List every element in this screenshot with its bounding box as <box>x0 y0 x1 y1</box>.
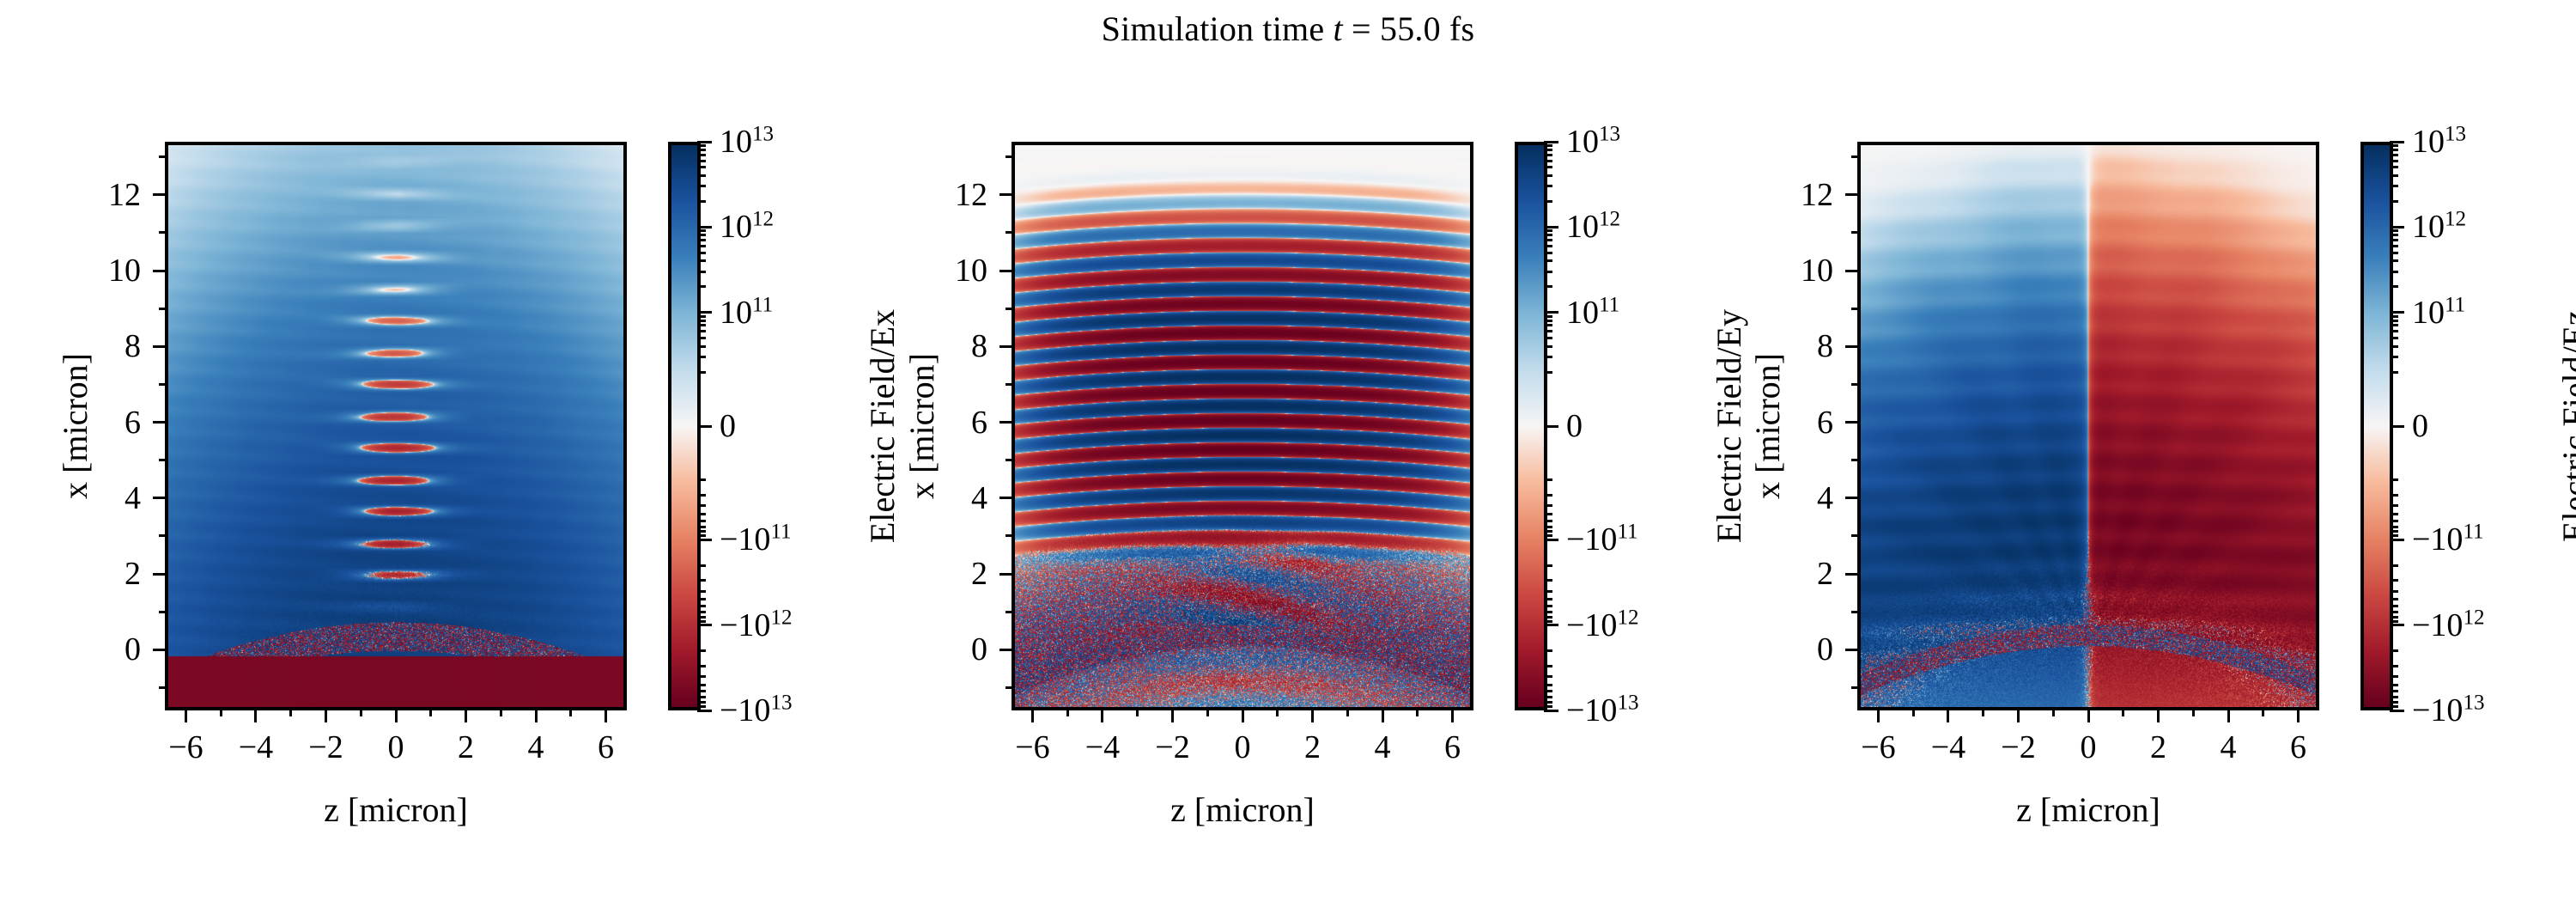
colorbar-tick-minor <box>697 579 706 582</box>
colorbar-tick-minor <box>697 234 706 236</box>
colorbar-tick-minor <box>2390 229 2398 232</box>
x-ticklabel: 2 <box>458 731 474 764</box>
colorbar-tick-minor <box>1544 598 1552 600</box>
colorbar-tick-minor <box>697 174 706 177</box>
y-ticklabel: 0 <box>1817 633 1833 666</box>
colorbar-tick-minor <box>697 330 706 332</box>
colorbar-ticklabel: −1011 <box>2412 521 2484 558</box>
colorbar-ticklabel: −1013 <box>720 692 793 729</box>
y-tick-major <box>999 193 1013 196</box>
colorbar-tick-major <box>2390 141 2404 143</box>
colorbar-tick-minor <box>697 696 706 698</box>
colorbar-tick-minor <box>2390 324 2398 326</box>
colorbar-tick-minor <box>1544 665 1552 667</box>
y-ticklabel: 6 <box>1817 406 1833 439</box>
colorbar-tick-minor <box>1544 620 1552 623</box>
colorbar-tick-minor <box>2390 494 2398 497</box>
colorbar-tick-minor <box>1544 579 1552 582</box>
colorbar-tick-minor <box>697 526 706 528</box>
x-ticklabel: −4 <box>1931 731 1965 764</box>
y-tick-minor <box>1005 534 1013 537</box>
y-axis-label: x [micron] <box>1747 353 1788 499</box>
colorbar-tick-minor <box>1544 252 1552 254</box>
colorbar-tick-minor <box>1544 271 1552 273</box>
colorbar-tick-major <box>1544 539 1558 541</box>
x-tick-major <box>1382 709 1384 722</box>
heatmap-canvas-ex <box>168 145 623 707</box>
y-tick-minor <box>159 383 167 386</box>
y-tick-minor <box>159 231 167 234</box>
figure-title-equals: = <box>1343 9 1380 48</box>
figure-title: Simulation time t = 55.0 fs <box>0 9 2576 49</box>
colorbar-ticklabel: 1012 <box>2412 208 2466 246</box>
colorbar-ticklabel: −1012 <box>720 606 793 644</box>
colorbar-tick-minor <box>2390 371 2398 374</box>
colorbar-tick-minor <box>2390 579 2398 582</box>
y-tick-minor <box>1005 308 1013 310</box>
y-ticklabel: 2 <box>125 558 141 590</box>
heatmap-axes-ez <box>1857 142 2319 710</box>
x-tick-major <box>2017 709 2020 722</box>
colorbar-tick-minor <box>2390 239 2398 241</box>
y-ticklabel: 12 <box>955 179 987 211</box>
colorbar-title-ey: Electric Field/Ey <box>1709 309 1749 543</box>
colorbar-tick-minor <box>1544 616 1552 619</box>
colorbar-tick-major <box>1544 710 1558 712</box>
figure-title-value: 55.0 fs <box>1380 9 1474 48</box>
y-tick-major <box>153 649 167 651</box>
colorbar-tick-minor <box>1544 526 1552 528</box>
x-ticklabel: −6 <box>1015 731 1049 764</box>
colorbar-tick-minor <box>2390 530 2398 533</box>
y-ticklabel: 8 <box>971 330 987 363</box>
colorbar-tick-minor <box>697 701 706 704</box>
colorbar-tick-minor <box>1544 494 1552 497</box>
colorbar-tick-major <box>697 624 712 626</box>
colorbar-title-ex: Electric Field/Ex <box>862 309 902 543</box>
colorbar-tick-minor <box>2390 174 2398 177</box>
colorbar-tick-minor <box>2390 696 2398 698</box>
colorbar-tick-minor <box>1544 371 1552 374</box>
x-tick-minor <box>1416 709 1419 716</box>
colorbar-tick-minor <box>697 478 706 481</box>
y-ticklabel: 8 <box>1817 330 1833 363</box>
x-tick-major <box>2157 709 2160 722</box>
colorbar-tick-minor <box>1544 520 1552 522</box>
colorbar-tick-minor <box>697 200 706 203</box>
y-tick-minor <box>1851 308 1859 310</box>
y-tick-minor <box>159 308 167 310</box>
y-tick-minor <box>1851 611 1859 613</box>
y-ticklabel: 2 <box>1817 558 1833 590</box>
colorbar-tick-minor <box>2390 330 2398 332</box>
x-axis-label: z [micron] <box>324 789 468 830</box>
y-ticklabel: 4 <box>125 482 141 515</box>
colorbar-tick-minor <box>697 649 706 652</box>
y-ticklabel: 0 <box>125 633 141 666</box>
x-tick-major <box>535 709 538 722</box>
y-tick-minor <box>159 534 167 537</box>
colorbar-tick-minor <box>1544 154 1552 156</box>
colorbar-tick-minor <box>1544 324 1552 326</box>
x-ticklabel: −4 <box>239 731 273 764</box>
y-ticklabel: 12 <box>1801 179 1833 211</box>
colorbar-tick-minor <box>2390 160 2398 162</box>
colorbar-tick-minor <box>1544 259 1552 262</box>
colorbar-tick-minor <box>697 185 706 187</box>
y-tick-major <box>999 270 1013 272</box>
y-tick-minor <box>1851 383 1859 386</box>
colorbar-tick-minor <box>697 271 706 273</box>
colorbar-tick-minor <box>697 320 706 322</box>
colorbar-tick-major <box>2390 624 2404 626</box>
y-tick-minor <box>1851 686 1859 689</box>
x-tick-minor <box>289 709 292 716</box>
colorbar-tick-major <box>697 141 712 143</box>
colorbar-tick-minor <box>2390 611 2398 613</box>
colorbar-tick-minor <box>697 356 706 358</box>
colorbar-tick-minor <box>697 229 706 232</box>
colorbar-tick-minor <box>1544 696 1552 698</box>
colorbar-tick-minor <box>2390 345 2398 348</box>
colorbar-tick-minor <box>697 590 706 593</box>
colorbar-tick-minor <box>1544 684 1552 686</box>
colorbar-tick-minor <box>2390 185 2398 187</box>
colorbar-tick-major <box>2390 539 2404 541</box>
x-tick-major <box>1242 709 1244 722</box>
colorbar-tick-minor <box>697 259 706 262</box>
y-ticklabel: 0 <box>971 633 987 666</box>
colorbar-tick-minor <box>697 345 706 348</box>
y-ticklabel: 6 <box>971 406 987 439</box>
y-tick-minor <box>1005 231 1013 234</box>
x-ticklabel: −2 <box>1155 731 1189 764</box>
colorbar-tick-major <box>697 539 712 541</box>
colorbar-tick-minor <box>2390 356 2398 358</box>
y-ticklabel: 2 <box>971 558 987 590</box>
x-ticklabel: −6 <box>1861 731 1895 764</box>
x-ticklabel: 6 <box>2290 731 2306 764</box>
colorbar-tick-minor <box>1544 675 1552 678</box>
colorbar-tick-minor <box>2390 234 2398 236</box>
x-ticklabel: 0 <box>388 731 404 764</box>
colorbar-tick-minor <box>2390 144 2398 147</box>
y-tick-major <box>1845 573 1859 576</box>
colorbar-tick-minor <box>2390 337 2398 339</box>
colorbar-tick-minor <box>697 149 706 151</box>
x-tick-minor <box>2262 709 2264 716</box>
colorbar-ticklabel: −1012 <box>2412 606 2485 644</box>
colorbar-tick-minor <box>2390 315 2398 318</box>
x-axis-label: z [micron] <box>1170 789 1315 830</box>
colorbar-tick-minor <box>697 160 706 162</box>
colorbar-tick-minor <box>2390 616 2398 619</box>
colorbar-tick-minor <box>697 520 706 522</box>
x-ticklabel: 6 <box>598 731 614 764</box>
colorbar-tick-minor <box>1544 611 1552 613</box>
x-tick-minor <box>500 709 502 716</box>
colorbar-ticklabel: −1013 <box>1566 692 1639 729</box>
colorbar-tick-major <box>697 710 712 712</box>
y-tick-minor <box>1005 611 1013 613</box>
y-tick-minor <box>1005 459 1013 461</box>
colorbar-ticklabel: −1011 <box>1566 521 1638 558</box>
colorbar-tick-minor <box>2390 320 2398 322</box>
colorbar-tick-minor <box>1544 200 1552 203</box>
colorbar-tick-minor <box>2390 504 2398 507</box>
y-tick-major <box>999 573 1013 576</box>
colorbar-tick-minor <box>697 504 706 507</box>
colorbar-tick-minor <box>1544 144 1552 147</box>
colorbar-tick-minor <box>2390 690 2398 692</box>
y-ticklabel: 10 <box>955 254 987 287</box>
colorbar-ticklabel: 1013 <box>720 123 774 161</box>
colorbar-tick-minor <box>697 684 706 686</box>
colorbar-tick-major <box>2390 226 2404 229</box>
y-tick-major <box>153 497 167 499</box>
x-tick-major <box>2297 709 2300 722</box>
colorbar-ticklabel: −1012 <box>1566 606 1639 644</box>
colorbar-ticklabel: −1013 <box>2412 692 2485 729</box>
colorbar-tick-minor <box>2390 620 2398 623</box>
x-ticklabel: 4 <box>2221 731 2237 764</box>
colorbar-tick-minor <box>1544 701 1552 704</box>
colorbar-tick-minor <box>1544 245 1552 247</box>
colorbar-tick-minor <box>1544 564 1552 567</box>
colorbar-tick-minor <box>1544 530 1552 533</box>
colorbar-tick-major <box>697 425 712 428</box>
y-ticklabel: 4 <box>1817 482 1833 515</box>
colorbar-tick-major <box>2390 710 2404 712</box>
colorbar-tick-minor <box>1544 149 1552 151</box>
colorbar-tick-minor <box>697 337 706 339</box>
colorbar-tick-minor <box>697 611 706 613</box>
y-tick-minor <box>159 459 167 461</box>
x-tick-major <box>2087 709 2090 722</box>
y-ticklabel: 6 <box>125 406 141 439</box>
x-tick-minor <box>1066 709 1069 716</box>
x-tick-minor <box>1912 709 1915 716</box>
y-tick-major <box>1845 649 1859 651</box>
x-tick-major <box>1171 709 1174 722</box>
y-tick-major <box>153 193 167 196</box>
colorbar-tick-minor <box>697 324 706 326</box>
x-tick-minor <box>429 709 432 716</box>
colorbar-tick-minor <box>697 605 706 607</box>
x-ticklabel: 4 <box>528 731 544 764</box>
colorbar-tick-major <box>1544 141 1558 143</box>
y-tick-minor <box>1851 459 1859 461</box>
x-tick-minor <box>1346 709 1349 716</box>
y-tick-major <box>153 421 167 424</box>
colorbar-tick-minor <box>697 239 706 241</box>
x-ticklabel: 0 <box>1235 731 1251 764</box>
colorbar-tick-minor <box>1544 345 1552 348</box>
y-ticklabel: 4 <box>971 482 987 515</box>
y-tick-major <box>1845 497 1859 499</box>
colorbar-tick-major <box>1544 311 1558 314</box>
colorbar-tick-minor <box>697 252 706 254</box>
y-tick-major <box>1845 270 1859 272</box>
y-tick-major <box>999 421 1013 424</box>
colorbar-ticklabel: 1011 <box>720 294 773 332</box>
x-tick-minor <box>1206 709 1209 716</box>
colorbar-tick-minor <box>1544 234 1552 236</box>
colorbar-tick-minor <box>1544 330 1552 332</box>
colorbar-tick-minor <box>1544 513 1552 515</box>
colorbar-tick-minor <box>697 371 706 374</box>
x-ticklabel: 2 <box>1304 731 1321 764</box>
y-tick-minor <box>1851 534 1859 537</box>
colorbar-tick-minor <box>1544 534 1552 537</box>
colorbar-gradient-ey <box>1518 145 1544 707</box>
colorbar-tick-minor <box>697 494 706 497</box>
x-tick-minor <box>360 709 362 716</box>
heatmap-axes-ey <box>1012 142 1473 710</box>
y-tick-major <box>999 345 1013 348</box>
y-axis-label: x [micron] <box>902 353 942 499</box>
colorbar-tick-minor <box>1544 166 1552 168</box>
x-tick-minor <box>2192 709 2195 716</box>
colorbar-tick-minor <box>1544 590 1552 593</box>
colorbar-tick-minor <box>697 166 706 168</box>
colorbar-ticklabel: −1011 <box>720 521 792 558</box>
y-tick-major <box>153 573 167 576</box>
colorbar-tick-minor <box>697 245 706 247</box>
x-tick-major <box>254 709 257 722</box>
y-tick-major <box>1845 193 1859 196</box>
colorbar-tick-minor <box>1544 705 1552 708</box>
x-ticklabel: −2 <box>308 731 343 764</box>
colorbar-tick-minor <box>1544 649 1552 652</box>
colorbar-tick-minor <box>697 530 706 533</box>
colorbar-tick-minor <box>1544 690 1552 692</box>
colorbar-tick-minor <box>1544 315 1552 318</box>
colorbar-tick-minor <box>2390 271 2398 273</box>
colorbar-tick-minor <box>697 690 706 692</box>
colorbar-tick-minor <box>2390 564 2398 567</box>
x-tick-major <box>2227 709 2230 722</box>
colorbar-tick-minor <box>2390 590 2398 593</box>
y-tick-minor <box>159 155 167 158</box>
colorbar-ticklabel: 1011 <box>1566 294 1619 332</box>
colorbar-tick-minor <box>2390 526 2398 528</box>
colorbar-tick-minor <box>697 675 706 678</box>
x-tick-major <box>185 709 187 722</box>
y-tick-major <box>1845 421 1859 424</box>
colorbar-tick-minor <box>697 144 706 147</box>
y-axis-label: x [micron] <box>55 353 95 499</box>
colorbar-tick-minor <box>2390 649 2398 652</box>
colorbar-tick-minor <box>2390 705 2398 708</box>
colorbar-tick-minor <box>2390 701 2398 704</box>
colorbar-ticklabel: 0 <box>1566 407 1583 445</box>
colorbar-tick-minor <box>697 154 706 156</box>
y-ticklabel: 10 <box>108 254 141 287</box>
colorbar-tick-minor <box>2390 252 2398 254</box>
y-tick-minor <box>1005 155 1013 158</box>
colorbar-tick-minor <box>2390 684 2398 686</box>
colorbar-tick-minor <box>2390 520 2398 522</box>
x-tick-minor <box>2122 709 2124 716</box>
colorbar-tick-minor <box>697 598 706 600</box>
x-ticklabel: −4 <box>1085 731 1120 764</box>
colorbar-tick-minor <box>1544 160 1552 162</box>
figure-root: Simulation time t = 55.0 fs −6−4−20246z … <box>0 0 2576 902</box>
x-ticklabel: 4 <box>1375 731 1391 764</box>
x-tick-minor <box>1276 709 1279 716</box>
y-ticklabel: 12 <box>108 179 141 211</box>
x-tick-minor <box>2052 709 2055 716</box>
y-tick-major <box>999 497 1013 499</box>
heatmap-canvas-ey <box>1015 145 1470 707</box>
x-tick-major <box>395 709 398 722</box>
figure-title-prefix: Simulation time <box>1102 9 1334 48</box>
heatmap-canvas-ez <box>1861 145 2316 707</box>
y-tick-major <box>1845 345 1859 348</box>
y-ticklabel: 10 <box>1801 254 1833 287</box>
colorbar-tick-minor <box>2390 285 2398 288</box>
colorbar-tick-minor <box>2390 166 2398 168</box>
colorbar-tick-minor <box>697 513 706 515</box>
colorbar-ticklabel: 1012 <box>720 208 774 246</box>
colorbar-tick-major <box>2390 425 2404 428</box>
colorbar-tick-minor <box>2390 478 2398 481</box>
colorbar-ticklabel: 1013 <box>2412 123 2466 161</box>
colorbar-tick-major <box>1544 226 1558 229</box>
colorbar-tick-minor <box>2390 675 2398 678</box>
colorbar-tick-minor <box>1544 337 1552 339</box>
colorbar-tick-major <box>2390 311 2404 314</box>
colorbar-tick-minor <box>1544 239 1552 241</box>
x-ticklabel: −2 <box>2001 731 2035 764</box>
colorbar-tick-minor <box>2390 598 2398 600</box>
x-tick-major <box>1451 709 1454 722</box>
colorbar-ticklabel: 1011 <box>2412 294 2465 332</box>
colorbar-gradient-ex <box>671 145 697 707</box>
colorbar-tick-minor <box>697 620 706 623</box>
y-tick-minor <box>1851 155 1859 158</box>
colorbar-tick-minor <box>2390 154 2398 156</box>
colorbar-tick-minor <box>1544 174 1552 177</box>
x-tick-major <box>1947 709 1949 722</box>
colorbar-tick-minor <box>1544 356 1552 358</box>
colorbar-tick-minor <box>697 564 706 567</box>
colorbar-tick-minor <box>697 315 706 318</box>
y-tick-minor <box>1005 686 1013 689</box>
y-ticklabel: 8 <box>125 330 141 363</box>
colorbar-ey <box>1515 142 1547 710</box>
x-tick-major <box>1311 709 1314 722</box>
x-tick-minor <box>220 709 222 716</box>
heatmap-axes-ex <box>165 142 627 710</box>
colorbar-tick-major <box>697 311 712 314</box>
colorbar-tick-minor <box>697 665 706 667</box>
colorbar-tick-minor <box>2390 534 2398 537</box>
colorbar-tick-minor <box>2390 245 2398 247</box>
colorbar-tick-minor <box>1544 229 1552 232</box>
y-tick-major <box>153 270 167 272</box>
colorbar-tick-minor <box>697 285 706 288</box>
colorbar-tick-minor <box>2390 605 2398 607</box>
x-ticklabel: 6 <box>1444 731 1461 764</box>
y-tick-major <box>999 649 1013 651</box>
y-tick-major <box>153 345 167 348</box>
x-tick-major <box>1101 709 1103 722</box>
x-tick-major <box>465 709 467 722</box>
colorbar-tick-minor <box>1544 285 1552 288</box>
colorbar-ticklabel: 0 <box>2412 407 2428 445</box>
